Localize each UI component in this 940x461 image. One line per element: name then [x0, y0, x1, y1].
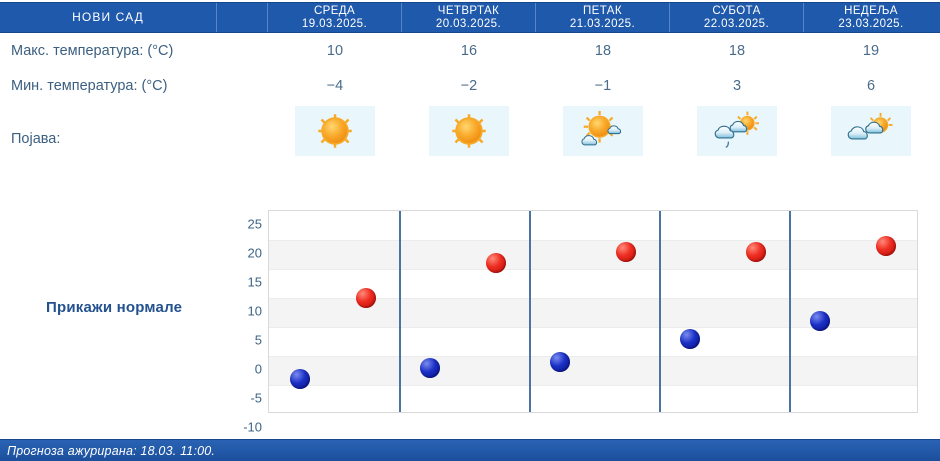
max-temp-day-1: 10 [268, 33, 402, 68]
phenomenon-day-3 [536, 101, 670, 178]
phenomenon-day-2 [402, 101, 536, 178]
temperature-chart: Прикажи нормале 2520151050-5-10 [0, 196, 940, 428]
chart-point-max [616, 242, 636, 262]
chart-gridline [269, 385, 917, 386]
chart-y-tick-label: 5 [228, 333, 262, 348]
phenomenon-label: Појава: [0, 131, 217, 147]
forecast-header-bar: НОВИ САД СРЕДА 19.03.2025. ЧЕТВРТАК 20.0… [0, 2, 940, 33]
show-normals-button[interactable]: Прикажи нормале [46, 299, 182, 316]
weather-icon-tile-3 [563, 106, 643, 156]
weather-icon-tile-5 [831, 106, 911, 156]
max-temperature-label: Макс. температура: (°C) [0, 43, 217, 59]
max-temp-day-4: 18 [670, 33, 804, 68]
forecast-table: Макс. температура: (°C) 10 16 18 18 19 М… [0, 33, 940, 175]
header-spacer-cell [217, 3, 268, 32]
clouds-with-sun-icon [846, 111, 896, 151]
chart-point-min [290, 369, 310, 389]
chart-y-tick-label: -5 [228, 391, 262, 406]
min-temp-day-3: −1 [536, 68, 670, 103]
phenomenon-day-1 [268, 101, 402, 178]
header-day-3: ПЕТАК 21.03.2025. [536, 3, 670, 32]
chart-day-divider [399, 211, 401, 412]
header-day-4-date: 22.03.2025. [704, 18, 769, 31]
max-temp-day-2: 16 [402, 33, 536, 68]
chart-point-min [680, 329, 700, 349]
chart-point-min [420, 358, 440, 378]
header-day-4-name: СУБОТА [712, 5, 760, 18]
chart-gridline [269, 269, 917, 270]
header-day-5-date: 23.03.2025. [838, 18, 903, 31]
sun-icon [450, 112, 488, 150]
header-day-1-name: СРЕДА [314, 5, 355, 18]
chart-y-tick-label: 15 [228, 275, 262, 290]
forecast-updated-text: Прогноза ажурирана: 18.03. 11:00. [0, 444, 215, 458]
header-day-2-date: 20.03.2025. [436, 18, 501, 31]
min-temp-day-1: −4 [268, 68, 402, 103]
header-day-1: СРЕДА 19.03.2025. [268, 3, 402, 32]
chart-y-tick-label: 10 [228, 304, 262, 319]
chart-y-axis: 2520151050-5-10 [222, 210, 262, 413]
max-temp-day-3: 18 [536, 33, 670, 68]
row-max-temperature: Макс. температура: (°C) 10 16 18 18 19 [0, 33, 940, 68]
chart-day-divider [529, 211, 531, 412]
chart-band [269, 240, 917, 269]
chart-point-min [550, 352, 570, 372]
phenomenon-day-5 [804, 101, 938, 178]
chart-day-divider [659, 211, 661, 412]
header-day-2: ЧЕТВРТАК 20.03.2025. [402, 3, 536, 32]
weather-icon-tile-2 [429, 106, 509, 156]
footer-bar: Прогноза ажурирана: 18.03. 11:00. [0, 439, 940, 461]
min-temp-day-4: 3 [670, 68, 804, 103]
header-day-5-name: НЕДЕЉА [844, 5, 898, 18]
sun-icon [316, 112, 354, 150]
chart-y-tick-label: -10 [228, 420, 262, 435]
header-city-name: НОВИ САД [0, 3, 217, 32]
row-min-temperature: Мин. температура: (°C) −4 −2 −1 3 6 [0, 68, 940, 103]
weather-icon-tile-4 [697, 106, 777, 156]
header-day-5: НЕДЕЉА 23.03.2025. [804, 3, 938, 32]
chart-point-max [746, 242, 766, 262]
min-temperature-label: Мин. температура: (°C) [0, 78, 217, 94]
weather-icon-tile-1 [295, 106, 375, 156]
sun-with-clouds-icon [579, 111, 627, 151]
min-temp-day-2: −2 [402, 68, 536, 103]
chart-point-max [356, 288, 376, 308]
max-temp-day-5: 19 [804, 33, 938, 68]
header-day-1-date: 19.03.2025. [302, 18, 367, 31]
phenomenon-day-4 [670, 101, 804, 178]
chart-point-max [486, 253, 506, 273]
chart-y-tick-label: 0 [228, 362, 262, 377]
clouds-with-sun-drizzle-icon [712, 110, 762, 152]
header-day-3-date: 21.03.2025. [570, 18, 635, 31]
chart-plot-area [268, 210, 918, 413]
chart-point-min [810, 311, 830, 331]
header-day-3-name: ПЕТАК [583, 5, 622, 18]
chart-y-tick-label: 20 [228, 246, 262, 261]
min-temp-day-5: 6 [804, 68, 938, 103]
header-day-4: СУБОТА 22.03.2025. [670, 3, 804, 32]
chart-day-divider [789, 211, 791, 412]
chart-point-max [876, 236, 896, 256]
chart-y-tick-label: 25 [228, 217, 262, 232]
chart-gridline [269, 240, 917, 241]
chart-band [269, 356, 917, 385]
row-phenomenon: Појава: [0, 103, 940, 175]
header-day-2-name: ЧЕТВРТАК [438, 5, 499, 18]
chart-gridline [269, 356, 917, 357]
